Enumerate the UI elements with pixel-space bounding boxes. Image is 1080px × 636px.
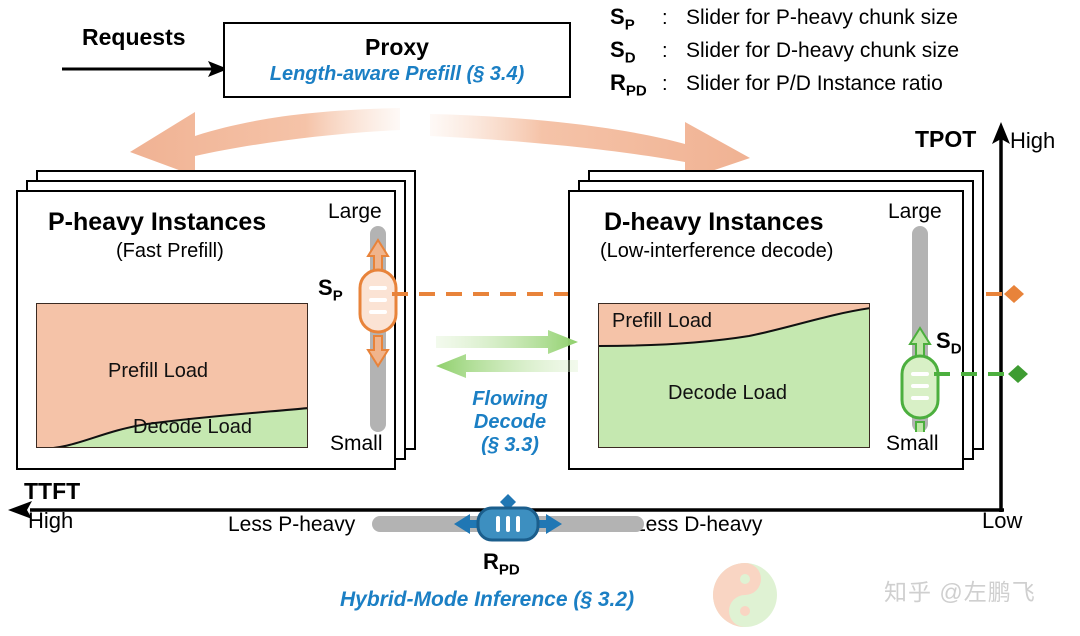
legend: SP : Slider for P-heavy chunk size SD : … [600,4,1070,103]
tpot-axis-arrow-icon [988,122,1014,512]
d-heavy-decode-load-label: Decode Load [668,382,787,405]
proxy-subtitle: Length-aware Prefill (§ 3.4) [270,62,525,86]
tpot-axis-label: TPOT [915,126,976,153]
d-heavy-subtitle: (Low-interference decode) [600,240,833,263]
legend-symbol-sp: SP [600,4,662,33]
legend-text-sp: Slider for P-heavy chunk size [686,6,958,30]
legend-symbol-rpd-sub: PD [626,82,647,99]
p-heavy-prefill-load-label: Prefill Load [108,360,208,383]
legend-symbol-rpd: RPD [600,70,662,99]
proxy-title: Proxy [365,34,429,60]
flowing-decode-label: Flowing Decode (§ 3.3) [440,388,580,457]
rpd-slider-symbol-sub: PD [499,561,520,578]
sd-tpot-connector-line [934,363,1039,385]
flowing-decode-line1: Flowing [440,388,580,411]
legend-colon-sd: : [662,40,686,63]
d-heavy-title: D-heavy Instances [604,208,824,237]
legend-colon-sp: : [662,7,686,30]
rpd-slider[interactable] [372,494,644,552]
tpot-high-label: High [1010,128,1055,154]
d-heavy-prefill-load-label: Prefill Load [612,310,712,333]
d-heavy-slider[interactable] [898,226,942,432]
d-heavy-slider-large-label: Large [888,200,942,224]
p-heavy-slider-symbol: SP [318,275,343,304]
proxy-box[interactable]: Proxy Length-aware Prefill (§ 3.4) [223,22,571,98]
p-heavy-title: P-heavy Instances [48,208,266,237]
requests-label: Requests [82,24,186,51]
p-heavy-subtitle: (Fast Prefill) [116,240,224,263]
dispatch-arrows-icon [100,100,800,180]
diagram-canvas: SP : Slider for P-heavy chunk size SD : … [0,0,1080,636]
flowing-decode-line2: Decode [440,411,580,434]
legend-symbol-sd-sub: D [625,49,636,66]
less-p-heavy-label: Less P-heavy [228,513,355,537]
p-heavy-slider-large-label: Large [328,200,382,224]
hybrid-mode-inference-label: Hybrid-Mode Inference (§ 3.2) [340,588,634,612]
legend-symbol-sp-sub: P [625,16,635,33]
p-heavy-slider-small-label: Small [330,432,383,456]
legend-text-rpd: Slider for P/D Instance ratio [686,72,943,96]
flowing-decode-arrows-icon [432,330,592,386]
d-heavy-slider-small-label: Small [886,432,939,456]
flowing-decode-line3: (§ 3.3) [440,434,580,457]
legend-row-rpd: RPD : Slider for P/D Instance ratio [600,70,1070,103]
less-d-heavy-label: Less D-heavy [634,513,762,537]
yin-yang-logo-icon [712,562,778,628]
requests-arrow-icon [60,56,232,82]
rpd-slider-symbol: RPD [483,549,520,578]
legend-symbol-sd: SD [600,37,662,66]
p-heavy-slider[interactable] [356,226,400,432]
d-heavy-slider-symbol-sub: D [951,340,962,357]
legend-row-sp: SP : Slider for P-heavy chunk size [600,4,1070,37]
legend-row-sd: SD : Slider for D-heavy chunk size [600,37,1070,70]
watermark-text: 知乎 @左鹏飞 [884,573,1036,607]
p-heavy-decode-load-label: Decode Load [133,416,252,439]
legend-colon-rpd: : [662,73,686,96]
legend-text-sd: Slider for D-heavy chunk size [686,39,959,63]
p-heavy-slider-symbol-sub: P [333,287,343,304]
